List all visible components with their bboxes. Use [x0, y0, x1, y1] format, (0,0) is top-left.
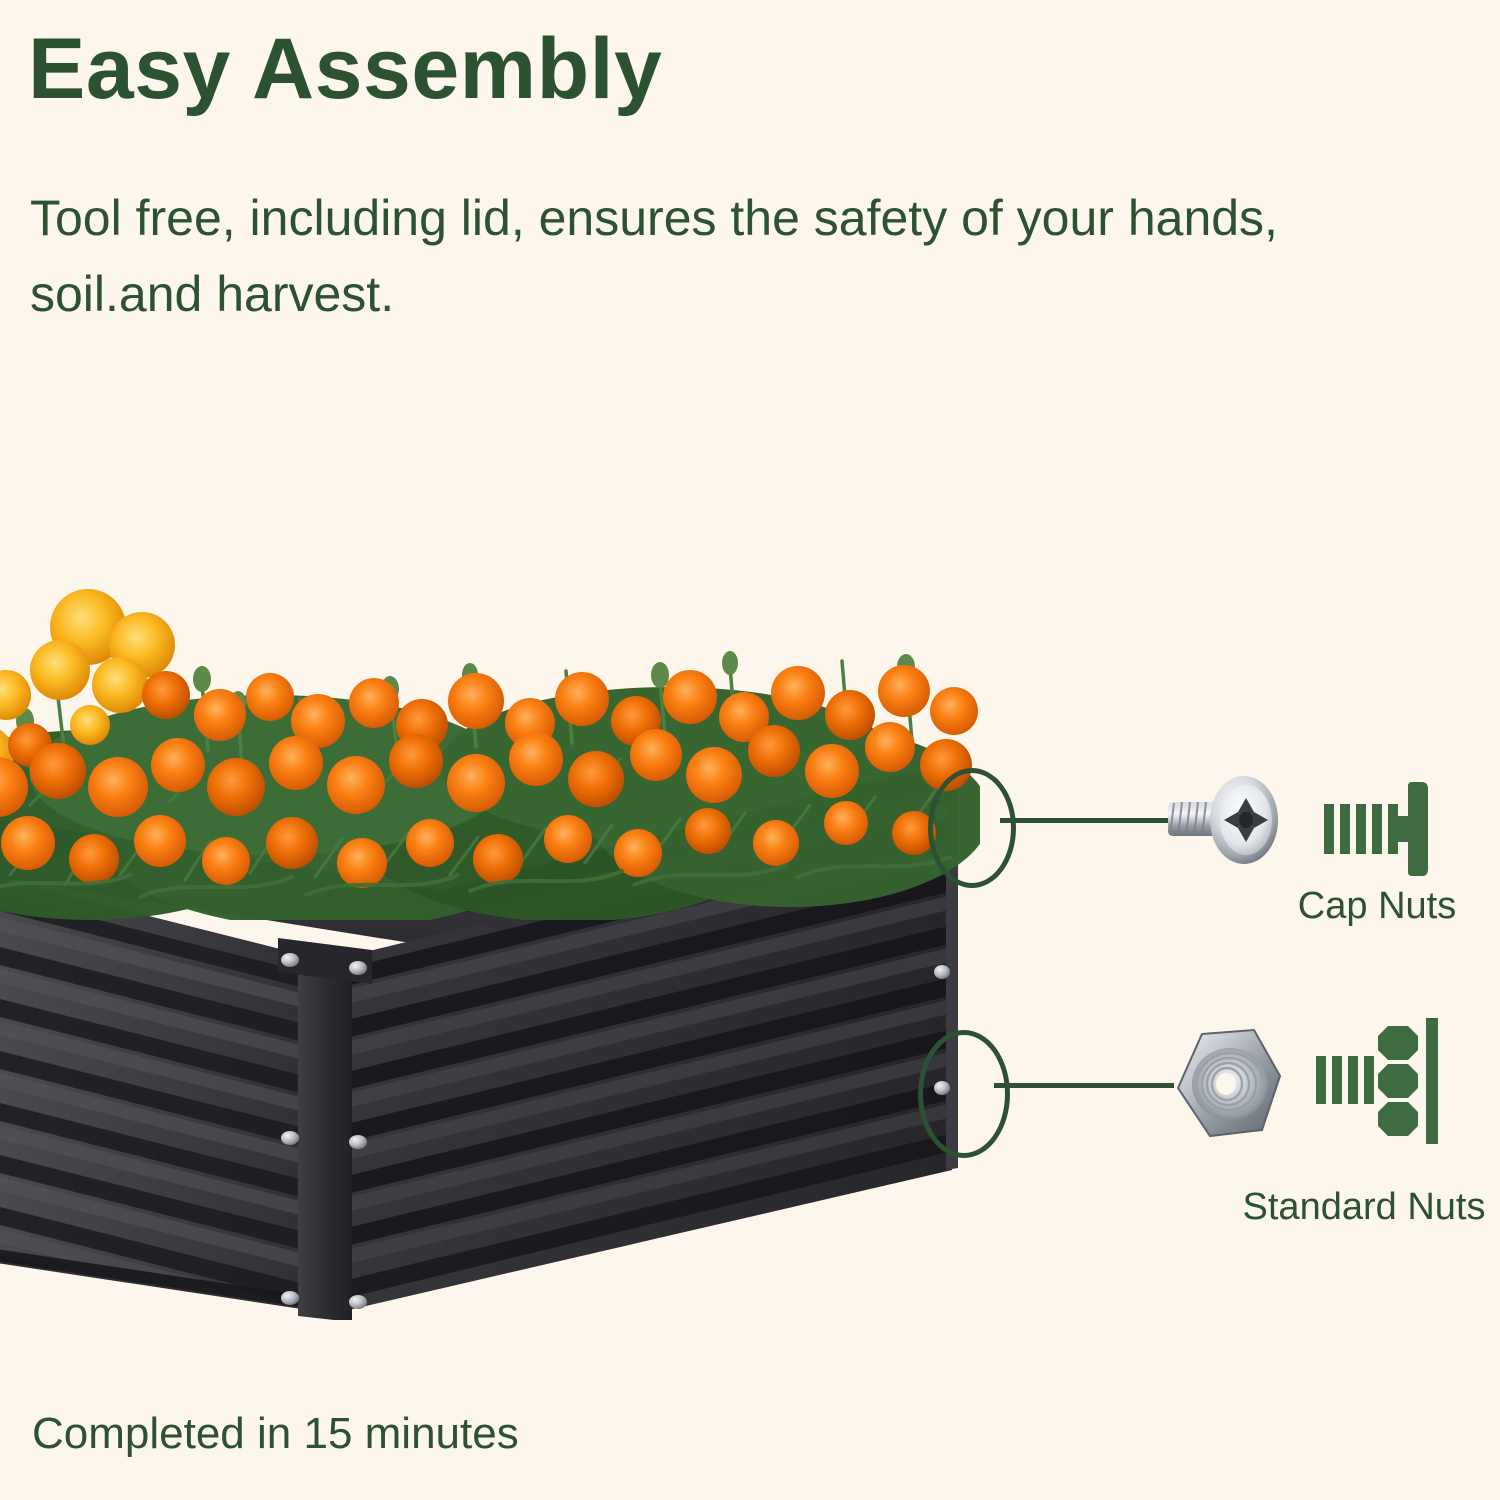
callout-line-cap-nuts [1000, 818, 1178, 823]
chrome-cap-bolt-photo [1166, 772, 1286, 868]
completion-time-note: Completed in 15 minutes [32, 1409, 519, 1459]
callout-label-cap-nuts: Cap Nuts [1252, 885, 1500, 928]
callout-line-standard-nuts [994, 1083, 1174, 1088]
page-title: Easy Assembly [28, 26, 662, 112]
cap-nut-icon [1322, 782, 1434, 882]
callout-ring-cap-nuts [928, 768, 1016, 888]
page-subtitle: Tool free, including lid, ensures the sa… [30, 180, 1370, 332]
chrome-hex-nut-photo [1168, 1026, 1286, 1144]
standard-nut-icon [1316, 1018, 1444, 1146]
callout-ring-standard-nuts [918, 1030, 1010, 1158]
raised-garden-bed-illustration [0, 560, 990, 1320]
infographic-page: Easy Assembly Tool free, including lid, … [0, 0, 1500, 1500]
bed-corner-post [298, 952, 352, 1320]
callout-label-standard-nuts: Standard Nuts [1226, 1186, 1500, 1229]
